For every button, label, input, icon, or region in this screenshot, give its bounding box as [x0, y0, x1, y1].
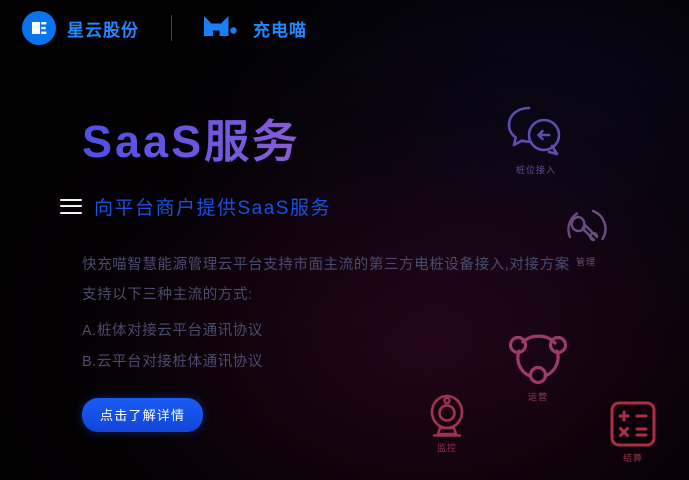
- hero-subtitle: 向平台商户提供SaaS服务: [94, 193, 331, 220]
- learn-more-button[interactable]: 点击了解详情: [82, 398, 203, 432]
- monitor-camera-icon: [425, 392, 469, 438]
- header-divider: [171, 15, 172, 41]
- chat-bubbles-arrow-icon: [505, 104, 567, 160]
- brand-primary[interactable]: 星云股份: [22, 11, 139, 45]
- calculator-icon: [608, 400, 658, 448]
- deco-label: 监控: [437, 441, 457, 454]
- deco-label: 管理: [576, 255, 596, 268]
- hero-body: 快充喵智慧能源管理云平台支持市面主流的第三方电桩设备接入,对接方案支持以下三种主…: [82, 250, 582, 310]
- ne-monogram-circle-icon: [22, 11, 56, 45]
- hamburger-icon[interactable]: [60, 199, 82, 214]
- header-bar: 星云股份 充电喵: [0, 0, 689, 56]
- cat-face-m-icon: [202, 13, 244, 44]
- network-nodes-icon: [505, 325, 571, 387]
- deco-label: 运营: [528, 390, 548, 403]
- deco-management: 管理: [563, 206, 609, 268]
- deco-operations: 运营: [505, 325, 571, 403]
- deco-pile-access: 桩位接入: [505, 104, 567, 176]
- deco-label: 桩位接入: [516, 163, 556, 176]
- deco-label: 结算: [623, 451, 643, 464]
- wrench-gear-icon: [563, 206, 609, 252]
- deco-monitoring: 监控: [425, 392, 469, 454]
- brand-secondary-name: 充电喵: [253, 16, 307, 41]
- brand-secondary[interactable]: 充电喵: [202, 13, 307, 44]
- page-root: 星云股份 充电喵 SaaS服务 向平台商户提供SaaS服务 快充喵智慧能源管理云…: [0, 0, 689, 480]
- brand-primary-name: 星云股份: [67, 16, 139, 41]
- hero-paragraph: 快充喵智慧能源管理云平台支持市面主流的第三方电桩设备接入,对接方案支持以下三种主…: [82, 250, 582, 310]
- deco-settlement: 结算: [608, 400, 658, 464]
- hero-subtitle-row: 向平台商户提供SaaS服务: [60, 193, 602, 220]
